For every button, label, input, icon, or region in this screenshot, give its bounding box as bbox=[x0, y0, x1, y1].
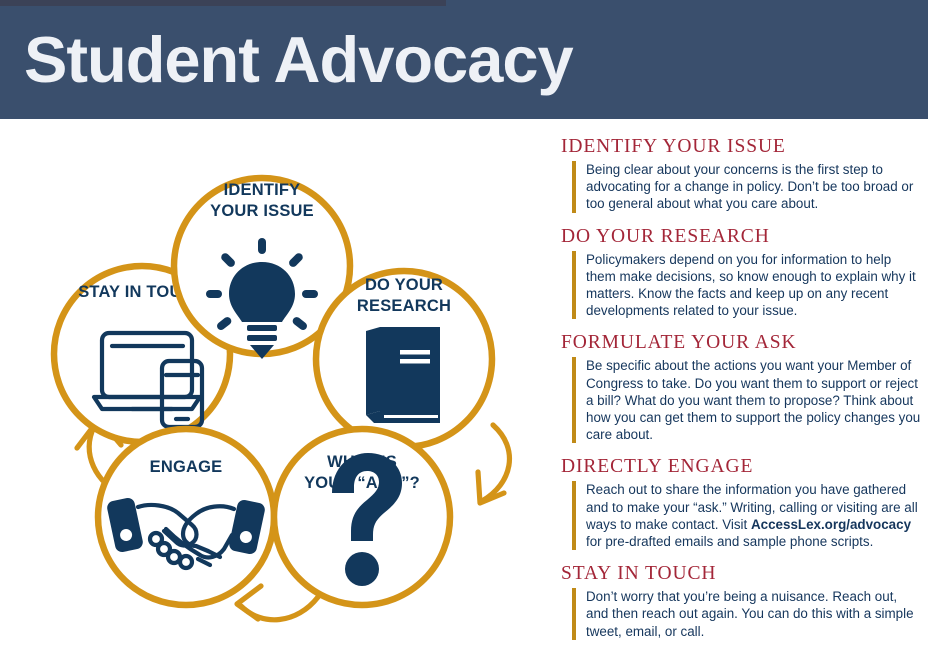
step-body-wrap: Be specific about the actions you want y… bbox=[561, 357, 921, 443]
book-icon bbox=[366, 327, 440, 423]
cycle-node-what-is-your-ask[interactable]: WHAT IS YOUR “ASK”? bbox=[274, 429, 450, 605]
step-body-wrap: Policymakers depend on you for informati… bbox=[561, 251, 921, 320]
step-body: Reach out to share the information you h… bbox=[586, 481, 921, 550]
research-label-line-1: DO YOUR bbox=[365, 276, 443, 294]
step-accent-bar bbox=[572, 481, 576, 550]
page-title: Student Advocacy bbox=[24, 17, 573, 103]
step-heading: DIRECTLY ENGAGE bbox=[561, 456, 921, 478]
step-accent-bar bbox=[572, 357, 576, 443]
step-heading: FORMULATE YOUR ASK bbox=[561, 332, 921, 354]
step-item: IDENTIFY YOUR ISSUE Being clear about yo… bbox=[561, 136, 921, 213]
advocacy-cycle-diagram: STAY IN TOUCH IDENTIFY YOUR ISSUE bbox=[0, 119, 552, 664]
step-body-wrap: Being clear about your concerns is the f… bbox=[561, 161, 921, 213]
identify-label-line-1: IDENTIFY bbox=[224, 181, 301, 199]
step-heading: DO YOUR RESEARCH bbox=[561, 226, 921, 248]
step-accent-bar bbox=[572, 161, 576, 213]
step-item: FORMULATE YOUR ASK Be specific about the… bbox=[561, 332, 921, 443]
header-top-strip bbox=[0, 0, 446, 6]
step-accent-bar bbox=[572, 588, 576, 640]
advocacy-steps-list: IDENTIFY YOUR ISSUE Being clear about yo… bbox=[561, 136, 921, 653]
arrow-research-to-ask bbox=[478, 425, 509, 503]
step-heading: STAY IN TOUCH bbox=[561, 563, 921, 585]
step-item: DIRECTLY ENGAGE Reach out to share the i… bbox=[561, 456, 921, 550]
page-header-banner: Student Advocacy bbox=[0, 0, 928, 119]
step-heading: IDENTIFY YOUR ISSUE bbox=[561, 136, 921, 158]
cycle-node-engage[interactable]: ENGAGE bbox=[98, 429, 274, 605]
step-body-wrap: Reach out to share the information you h… bbox=[561, 481, 921, 550]
step-body-wrap: Don’t worry that you’re being a nuisance… bbox=[561, 588, 921, 640]
arrow-ask-to-engage bbox=[237, 586, 318, 620]
engage-label: ENGAGE bbox=[150, 458, 223, 476]
step-body: Be specific about the actions you want y… bbox=[586, 357, 921, 443]
step-item: STAY IN TOUCH Don’t worry that you’re be… bbox=[561, 563, 921, 640]
cycle-node-do-your-research[interactable]: DO YOUR RESEARCH bbox=[316, 271, 492, 447]
step-body: Being clear about your concerns is the f… bbox=[586, 161, 921, 213]
step-body: Don’t worry that you’re being a nuisance… bbox=[586, 588, 921, 640]
identify-label-line-2: YOUR ISSUE bbox=[210, 202, 314, 220]
step-item: DO YOUR RESEARCH Policymakers depend on … bbox=[561, 226, 921, 320]
research-label-line-2: RESEARCH bbox=[357, 297, 451, 315]
ask-label-line-2: YOUR “ASK”? bbox=[304, 474, 420, 492]
step-body: Policymakers depend on you for informati… bbox=[586, 251, 921, 320]
step-accent-bar bbox=[572, 251, 576, 320]
